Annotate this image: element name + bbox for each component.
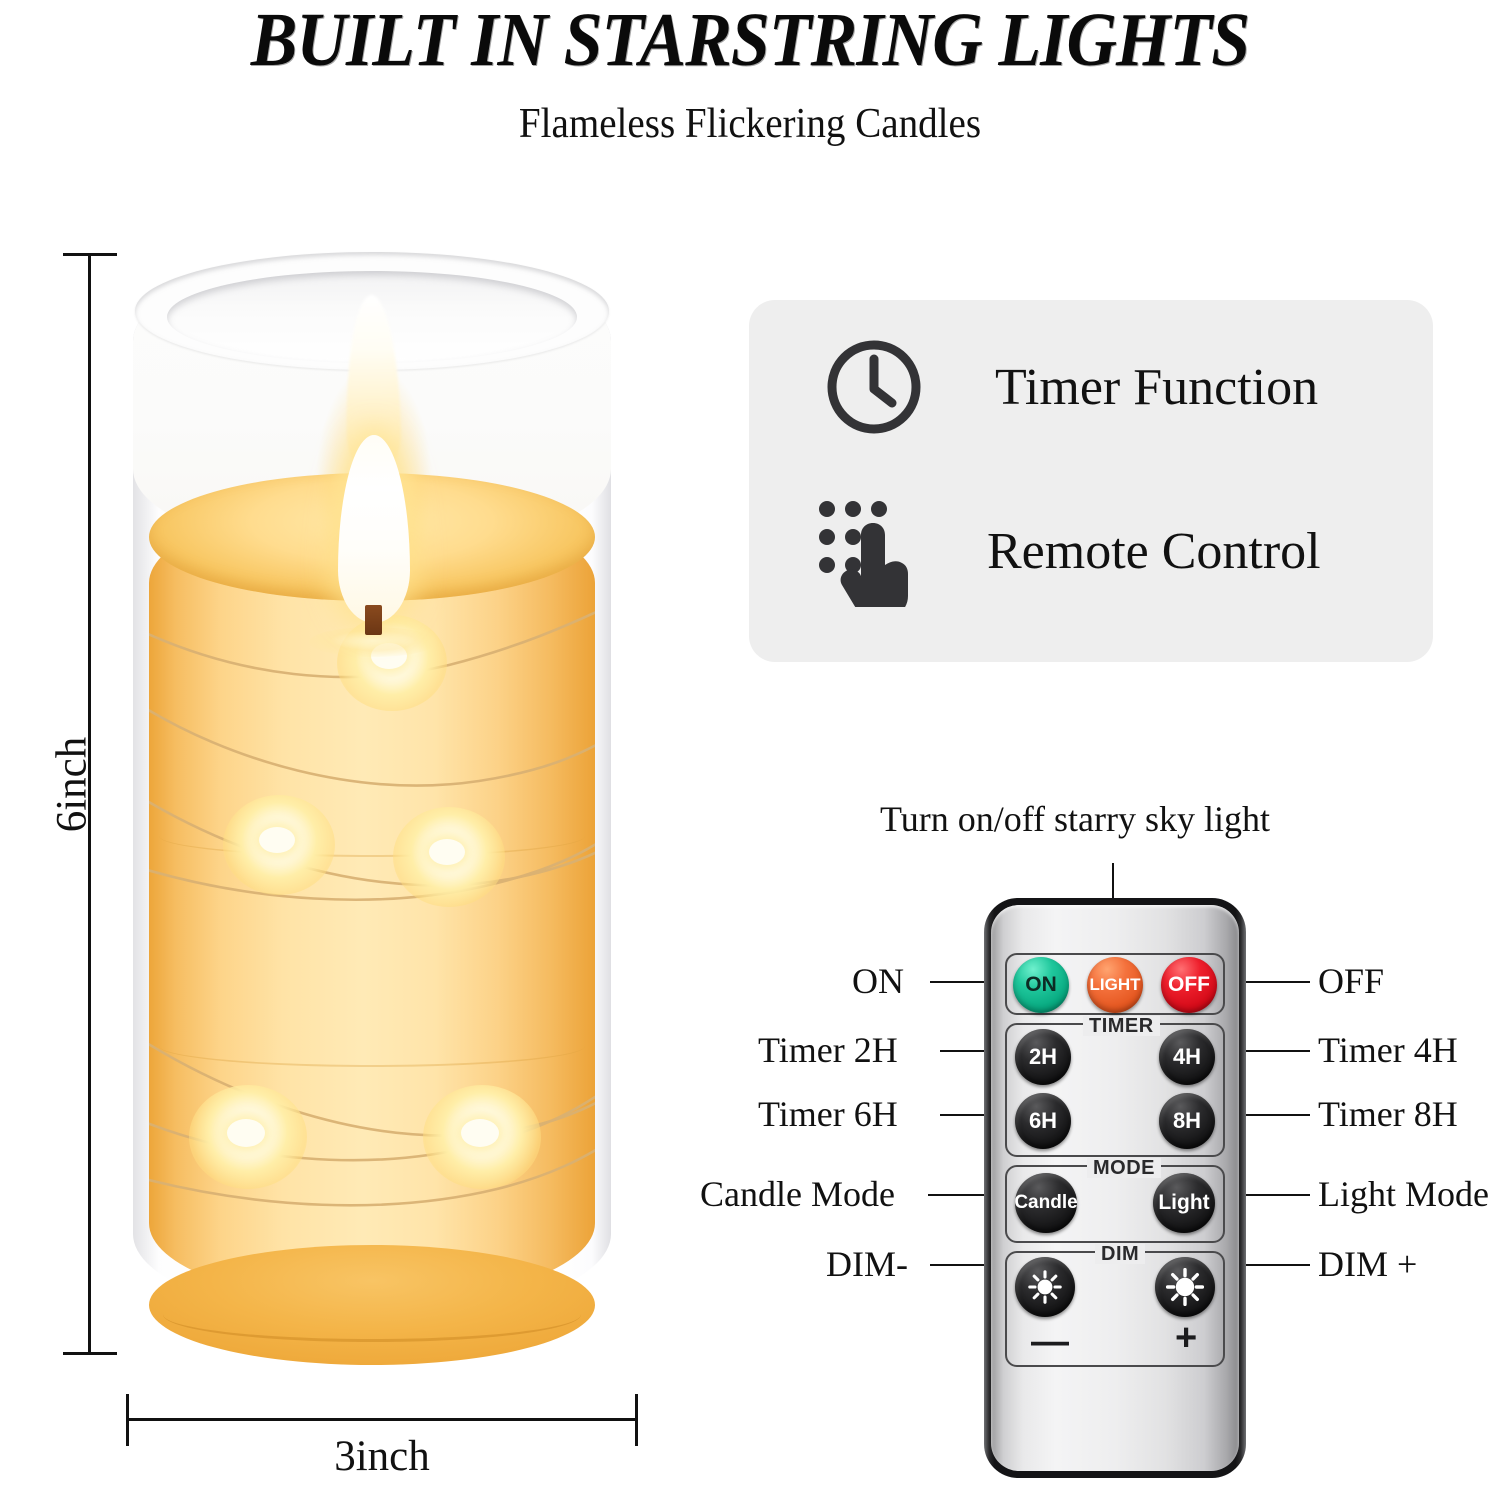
- dim-minus-button[interactable]: [1015, 1257, 1075, 1317]
- timer-4h-button[interactable]: 4H: [1159, 1029, 1215, 1085]
- hand-press-keypad-icon: [811, 496, 921, 606]
- callout-timer-8h: Timer 8H: [1318, 1093, 1458, 1135]
- dim-plus-button[interactable]: [1155, 1257, 1215, 1317]
- callout-timer-4h: Timer 4H: [1318, 1029, 1458, 1071]
- dim-plus-symbol: +: [1175, 1319, 1197, 1357]
- feature-label: Timer Function: [995, 358, 1318, 417]
- led-bulb: [461, 1119, 499, 1147]
- remote-body: ON LIGHT OFF TIMER 2H 4H 6H 8H MODE Cand…: [984, 898, 1246, 1478]
- dim-section-label: DIM: [1095, 1244, 1145, 1264]
- remote-control-image: ON LIGHT OFF TIMER 2H 4H 6H 8H MODE Cand…: [984, 898, 1246, 1478]
- callout-off: OFF: [1318, 960, 1384, 1002]
- callout-dim-plus: DIM +: [1318, 1243, 1417, 1285]
- candle-wick: [365, 605, 382, 635]
- callout-candle-mode: Candle Mode: [700, 1173, 895, 1215]
- feature-label: Remote Control: [987, 522, 1321, 581]
- light-button[interactable]: LIGHT: [1087, 957, 1143, 1013]
- light-mode-button[interactable]: Light: [1153, 1173, 1215, 1233]
- feature-remote-control: Remote Control: [811, 496, 1321, 606]
- timer-6h-button[interactable]: 6H: [1015, 1093, 1071, 1149]
- width-dimension-label: 3inch: [126, 1432, 638, 1481]
- led-bulb: [259, 827, 295, 853]
- timer-2h-button[interactable]: 2H: [1015, 1029, 1071, 1085]
- callout-dim-minus: DIM-: [826, 1243, 908, 1285]
- callout-light-mode: Light Mode: [1318, 1173, 1489, 1215]
- on-button[interactable]: ON: [1013, 957, 1069, 1013]
- sun-brightness-icon: [1166, 1268, 1204, 1306]
- flameless-candle-image: [133, 255, 611, 1320]
- led-bulb: [227, 1119, 265, 1147]
- dim-minus-symbol: —: [1031, 1323, 1069, 1361]
- clock-icon: [819, 332, 929, 442]
- feature-panel: Timer Function Remote Control: [749, 300, 1433, 662]
- callout-timer-2h: Timer 2H: [758, 1029, 898, 1071]
- candle-mode-button[interactable]: Candle: [1015, 1173, 1077, 1233]
- sun-brightness-icon: [1028, 1270, 1062, 1304]
- timer-8h-button[interactable]: 8H: [1159, 1093, 1215, 1149]
- width-dimension-line: [126, 1418, 638, 1421]
- mode-section-label: MODE: [1087, 1158, 1161, 1178]
- led-bulb: [429, 839, 465, 865]
- starry-sky-callout-label: Turn on/off starry sky light: [880, 798, 1270, 840]
- callout-timer-6h: Timer 6H: [758, 1093, 898, 1135]
- timer-section-label: TIMER: [1083, 1016, 1160, 1036]
- height-dimension-cap-bottom: [63, 1352, 117, 1355]
- feature-timer-function: Timer Function: [819, 332, 1318, 442]
- off-button[interactable]: OFF: [1161, 957, 1217, 1013]
- candle-figure: 6inch 3inch: [0, 0, 700, 1270]
- callout-on: ON: [852, 960, 904, 1002]
- remote-faceplate: ON LIGHT OFF TIMER 2H 4H 6H 8H MODE Cand…: [991, 905, 1239, 1471]
- starstring-lights: [149, 585, 595, 1325]
- height-dimension-label: 6inch: [48, 705, 97, 865]
